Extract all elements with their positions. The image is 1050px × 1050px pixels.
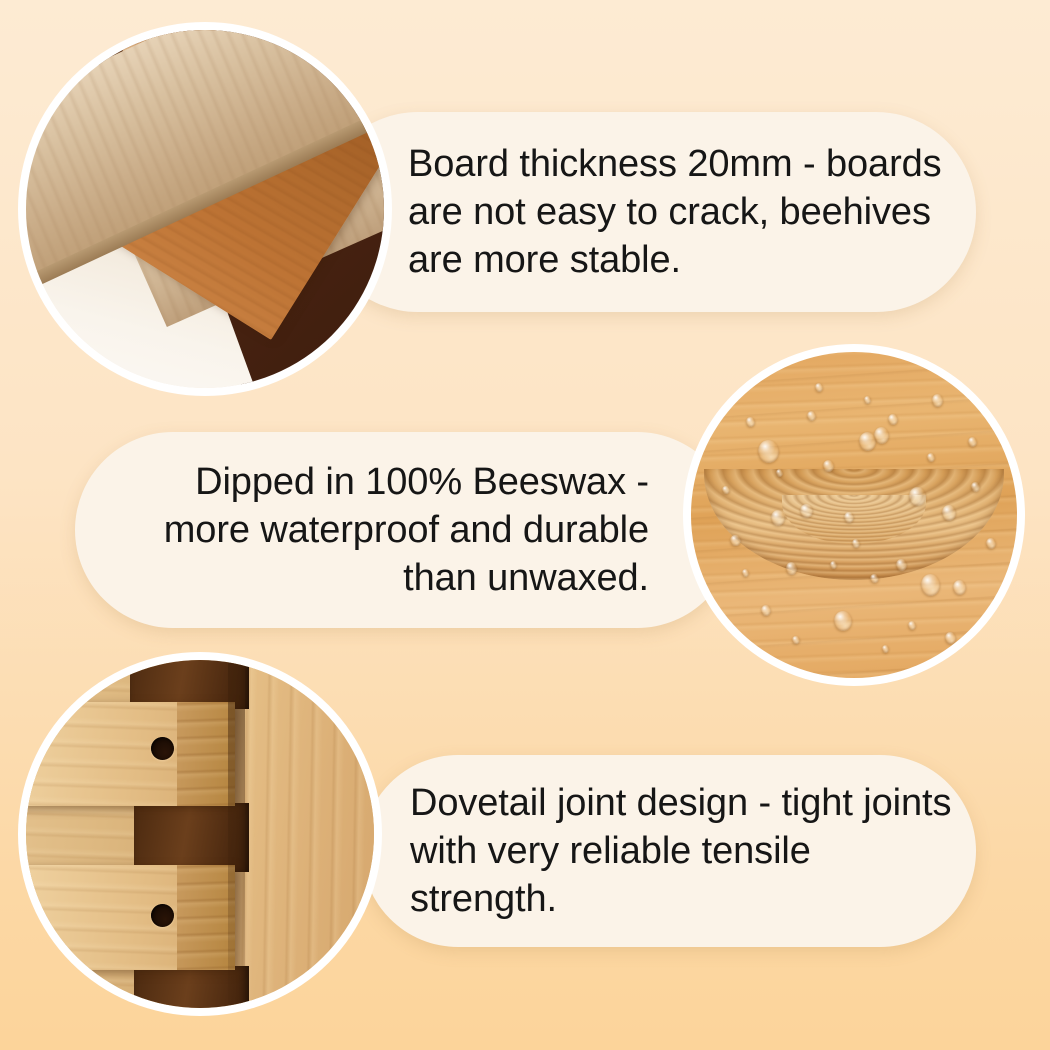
photo-board-thickness-inner [26,30,384,388]
feature-photo-dovetail-joint [18,652,382,1016]
water-droplet [742,569,749,577]
photo-dovetail-inner [26,660,374,1008]
photo3-tab-end-grain-lower [177,865,235,969]
water-droplet [870,574,878,583]
water-droplet [758,440,779,463]
photo3-finger-tab-lower [26,865,235,969]
water-droplet [815,383,823,392]
feature-photo-beeswax-dipped [683,344,1025,686]
water-droplet [888,414,898,425]
feature-card-dovetail-joint: Dovetail joint design - tight joints wit… [362,755,976,947]
photo3-tab-end-grain-upper [177,702,235,806]
photo3-nail-hole-lower [151,904,174,927]
water-droplet [864,396,871,404]
water-droplet [921,574,941,596]
water-droplet [761,605,771,616]
feature-text-beeswax-dipped: Dipped in 100% Beeswax - more waterproof… [75,458,735,603]
water-droplet [909,487,925,505]
water-droplet [834,611,852,631]
water-droplet [945,632,955,644]
water-droplet [927,453,935,462]
water-droplet [722,486,730,495]
water-droplet [746,417,754,426]
feature-text-board-thickness: Board thickness 20mm - boards are not ea… [318,140,976,285]
feature-card-beeswax-dipped: Dipped in 100% Beeswax - more waterproof… [75,432,735,628]
water-droplet [980,642,987,650]
water-droplet [896,559,906,571]
photo3-nail-hole-upper [151,737,174,760]
water-droplet [986,538,996,549]
feature-card-board-thickness: Board thickness 20mm - boards are not ea… [318,112,976,312]
water-droplet [942,505,956,520]
water-droplet [823,460,834,472]
photo-beeswax-inner [691,352,1017,678]
water-droplet [730,535,740,547]
water-droplet [859,432,876,451]
water-droplet [971,482,979,491]
photo3-seam-shadow [228,660,245,1008]
feature-photo-board-thickness [18,22,392,396]
water-droplet [994,597,1002,606]
water-droplet [792,636,800,645]
water-droplet [807,411,816,421]
photo3-finger-tab-upper [26,702,235,806]
water-droplet [830,561,837,569]
feature-text-dovetail-joint: Dovetail joint design - tight joints wit… [362,779,976,924]
infographic-canvas: Board thickness 20mm - boards are not ea… [0,0,1050,1050]
